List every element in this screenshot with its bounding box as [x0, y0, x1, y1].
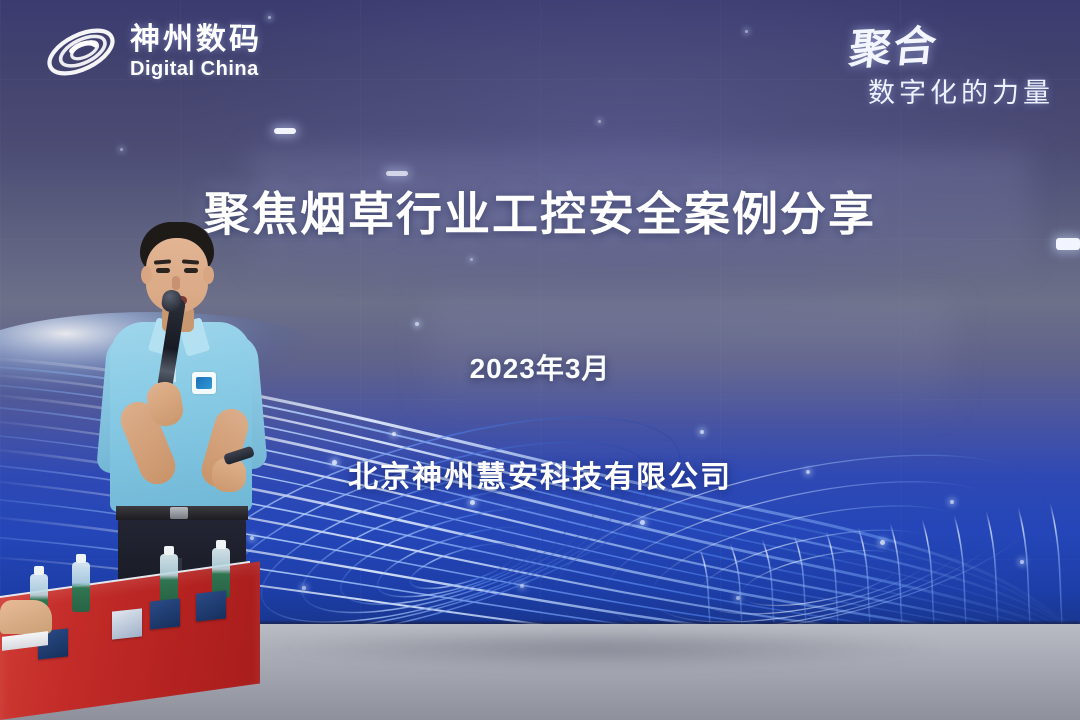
slogan-sub-text: 数字化的力量 [850, 71, 1054, 110]
brand-logo-text: 神州数码 Digital China [130, 25, 262, 79]
seat-name-card [150, 598, 180, 629]
wall-light-bar-left [274, 128, 296, 134]
presenter-belt-buckle [170, 507, 188, 519]
presenter-nose [172, 276, 180, 290]
water-bottle [160, 554, 178, 604]
wall-light-bar-title [386, 171, 408, 176]
judges-table [0, 585, 268, 720]
brand-logo-digital-china: 神州数码 Digital China [42, 20, 262, 84]
presenter-ear-left [141, 266, 152, 284]
attendee-hand [0, 600, 52, 634]
brand-name-en: Digital China [130, 59, 262, 79]
presenter-chest-logo-badge [192, 372, 216, 394]
seat-name-card [112, 608, 142, 639]
presenter-ear-right [203, 266, 214, 284]
slogan-brush-text: 聚合 [846, 12, 941, 78]
brand-name-cn: 神州数码 [130, 25, 262, 55]
conference-stage-photo: 神州数码 Digital China 聚合 数字化的力量 聚焦烟草行业工控安全案… [0, 0, 1080, 720]
water-bottle [72, 562, 90, 612]
slogan-brush-line: 聚合 [850, 14, 1054, 75]
presenter-eye-right [184, 268, 198, 273]
event-slogan: 聚合 数字化的力量 [850, 14, 1054, 110]
stage-floor-shadow [250, 628, 950, 668]
spiral-swirl-icon [42, 20, 120, 84]
seat-name-card [196, 590, 226, 621]
presenter-eye-left [156, 268, 170, 273]
